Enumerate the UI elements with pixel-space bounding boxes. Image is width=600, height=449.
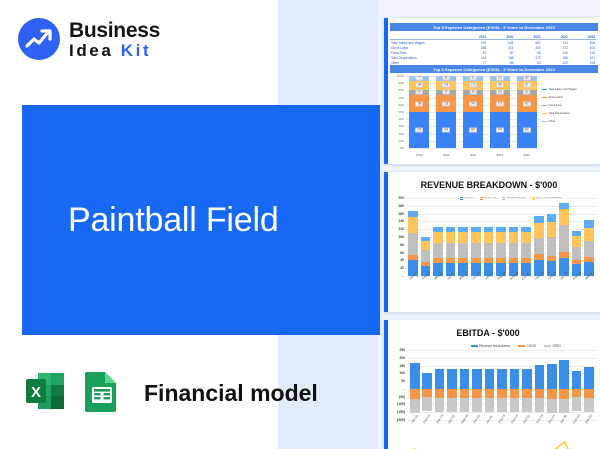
excel-file-icon: X (22, 368, 68, 419)
expense-chart-plot: 7714482288576851589031663492171983436871… (406, 76, 540, 148)
revenue-chart-bars (406, 198, 596, 276)
stack-segment: 403 (517, 95, 537, 113)
stacked-bar (559, 203, 569, 276)
stack-segment (472, 369, 482, 389)
stack-segment (584, 367, 594, 389)
stacked-bar: 108201115403806 (517, 76, 537, 148)
stack-segment (559, 399, 569, 413)
stack-segment (584, 241, 594, 257)
stack-segment (510, 369, 520, 389)
stack-segment (485, 369, 495, 389)
stack-segment (547, 389, 557, 399)
legend-item: OPEX (544, 344, 561, 348)
stack-segment (584, 389, 594, 398)
stack-segment: 171 (463, 81, 483, 90)
stack-segment (408, 233, 418, 255)
stack-segment: 316 (436, 95, 456, 113)
x-tick-label: 2020 (443, 153, 449, 157)
stack-segment (484, 243, 494, 258)
y-tick-label: 60 (400, 251, 404, 255)
stack-segment (522, 398, 532, 412)
ebitda-chart-legend: Revenue breakdownsCOGSOPEX (434, 344, 598, 348)
stack-segment (547, 364, 557, 389)
expense-chart-x-labels: 20192020202120222023 (406, 150, 540, 160)
stacked-bar: 8515890316634 (436, 76, 456, 148)
stack-segment (485, 389, 495, 398)
brand-kit-text: Kit (121, 41, 151, 60)
hero-panel: Paintball Field (22, 105, 380, 335)
revenue-breakdown-card: REVENUE BREAKDOWN - $'000 SteaksSeaFoodA… (384, 172, 600, 312)
stack-segment (484, 232, 494, 243)
stack-segment (572, 371, 582, 389)
stack-segment (547, 237, 557, 256)
stack-segment (447, 389, 457, 398)
stack-segment: 744 (490, 112, 510, 147)
stacked-bar (572, 350, 582, 420)
y-tick-label: 180 (398, 204, 404, 208)
stacked-bar (408, 211, 418, 276)
expense-table-title: Top 5 Expense Categories ($'000) - 5 Yea… (390, 23, 598, 31)
y-tick-label: 40 (400, 258, 404, 262)
stack-segment (460, 389, 470, 398)
stacked-bar (572, 231, 582, 276)
growth-arrow-icon (18, 18, 60, 60)
y-tick-label: 150 (399, 364, 405, 368)
stack-segment (410, 363, 420, 389)
stack-segment (471, 243, 481, 258)
y-tick-label: 200 (399, 356, 405, 360)
y-tick-label: (200) (397, 418, 405, 422)
stack-segment (446, 232, 456, 243)
legend-item: Revenue breakdowns (471, 344, 510, 348)
format-label: Financial model (144, 380, 318, 407)
stack-segment (534, 223, 544, 237)
stack-segment (458, 243, 468, 258)
stacked-bar (521, 227, 531, 276)
stacked-bar (584, 350, 594, 420)
stacked-bar: 100186106372744 (490, 76, 510, 148)
stack-segment (522, 389, 532, 398)
y-tick-label: - (403, 274, 404, 278)
legend-item: Total Depreciation (542, 112, 596, 115)
stack-segment (572, 236, 582, 247)
revenue-chart-x-labels: Jan-19Feb-19Mar-19Apr-19May-19Jun-19Jul-… (406, 278, 596, 302)
stacked-bar (421, 237, 431, 276)
y-tick-label: - (404, 387, 405, 391)
stacked-bar (547, 214, 557, 276)
revenue-chart-y-axis: 20018016014012010080604020- (386, 198, 404, 276)
legend-item: Fixed Fees (542, 104, 596, 107)
brand-logo: Business Idea Kit (18, 18, 160, 60)
y-tick-label: 100 (399, 371, 405, 375)
stack-segment (497, 398, 507, 412)
stack-segment (435, 389, 445, 398)
stack-segment: 186 (490, 81, 510, 90)
stack-segment (535, 365, 545, 389)
stack-segment (535, 398, 545, 412)
stack-segment: 144 (409, 81, 429, 90)
y-tick-label: 160 (398, 212, 404, 216)
expense-chart-bars: 7714482288576851589031663492171983436871… (406, 76, 540, 148)
stacked-bar (584, 220, 594, 276)
stack-segment: 634 (436, 112, 456, 148)
stack-segment (547, 399, 557, 413)
x-tick-label: 2023 (523, 153, 529, 157)
stacked-bar (535, 350, 545, 420)
y-tick-label: 20 (400, 266, 404, 270)
x-tick-label: 2021 (470, 153, 476, 157)
stack-segment: 576 (409, 112, 429, 148)
revenue-chart-plot (406, 198, 596, 276)
stack-segment (509, 232, 519, 243)
y-tick-label: 80 (400, 243, 404, 247)
stack-segment (572, 389, 582, 397)
stack-segment (471, 232, 481, 243)
slide-canvas: Business Idea Kit Paintball Field X (0, 0, 600, 449)
stack-segment (435, 369, 445, 389)
stack-segment (458, 232, 468, 243)
stack-segment: 201 (517, 81, 537, 90)
stack-segment: 288 (409, 95, 429, 113)
format-row: X Financial model (22, 368, 318, 419)
stack-segment (485, 398, 495, 412)
stacked-bar: 9217198343687 (463, 76, 483, 148)
ebitda-card: EBITDA - $'000 Revenue breakdownsCOGSOPE… (384, 320, 600, 449)
stack-segment (422, 373, 432, 389)
stack-segment (460, 398, 470, 412)
stack-segment (497, 389, 507, 398)
stacked-bar (435, 350, 445, 420)
stack-segment (446, 243, 456, 258)
stack-segment (509, 243, 519, 258)
stack-segment (559, 389, 569, 399)
stack-segment (408, 217, 418, 233)
stack-segment: 372 (490, 95, 510, 113)
stack-segment (534, 238, 544, 254)
revenue-chart-title: REVENUE BREAKDOWN - $'000 (384, 180, 594, 190)
expense-report-card: Top 5 Expense Categories ($'000) - 5 Yea… (384, 18, 600, 164)
stacked-bar (559, 350, 569, 420)
ebitda-chart-title: EBITDA - $'000 (384, 328, 592, 338)
stack-segment (496, 232, 506, 243)
stack-segment: 158 (436, 81, 456, 90)
stacked-bar (496, 227, 506, 276)
expense-chart-legend: Total Salary and WagesDirect LaborFixed … (542, 88, 596, 128)
y-tick-label: 100 (398, 235, 404, 239)
stack-segment (510, 389, 520, 398)
google-sheets-icon (82, 368, 122, 419)
ebitda-chart-x-labels: Jan-19Feb-19Mar-19Apr-19May-19Jun-19Jul-… (408, 422, 596, 446)
stack-segment (559, 209, 569, 225)
stack-segment (522, 369, 532, 389)
ebitda-chart-bars (408, 350, 596, 420)
y-tick-label: (50) (399, 395, 405, 399)
stack-segment (472, 398, 482, 412)
stacked-bar (534, 216, 544, 276)
x-tick-label: 2019 (416, 153, 422, 157)
y-tick-label: 140 (398, 219, 404, 223)
stacked-bar (485, 350, 495, 420)
legend-item: Other (542, 120, 596, 123)
stacked-bar (484, 227, 494, 276)
stack-segment (422, 389, 432, 397)
stack-segment (433, 243, 443, 258)
brand-idea-text: Idea (69, 41, 121, 60)
stacked-bar (547, 350, 557, 420)
stack-segment (584, 228, 594, 241)
stack-segment (535, 389, 545, 398)
stack-segment (422, 397, 432, 411)
stack-segment (472, 389, 482, 398)
ebitda-chart-plot (408, 350, 596, 420)
stack-segment (510, 398, 520, 412)
stacked-bar (433, 227, 443, 276)
stack-segment: 687 (463, 112, 483, 148)
x-tick-label: 2022 (497, 153, 503, 157)
stacked-bar (509, 227, 519, 276)
stacked-bar: 7714482288576 (409, 76, 429, 148)
stacked-bar (471, 227, 481, 276)
y-tick-label: 120 (398, 227, 404, 231)
y-tick-label: 200 (398, 196, 404, 200)
page-title: Paintball Field (68, 201, 279, 240)
stack-segment (572, 397, 582, 411)
stack-segment (559, 225, 569, 252)
legend-item: Direct Labor (542, 96, 596, 99)
stack-segment (410, 389, 420, 399)
stacked-bar (472, 350, 482, 420)
stack-segment: 343 (463, 95, 483, 113)
stacked-bar (422, 350, 432, 420)
svg-text:X: X (31, 384, 41, 401)
ebitda-chart-y-axis: 25020015010050-(50)(100)(150)(200) (384, 350, 406, 420)
stacked-bar (446, 227, 456, 276)
stack-segment (572, 247, 582, 261)
stack-segment (421, 250, 431, 262)
stack-segment (534, 216, 544, 223)
expense-chart-title: Top 5 Expense Categories ($'000) - 5 Yea… (390, 65, 598, 73)
stack-segment (433, 232, 443, 243)
stack-segment (447, 398, 457, 412)
stacked-bar (447, 350, 457, 420)
expense-chart-y-axis: 0%10%20%30%40%50%60%70%80%90%100% (390, 76, 405, 148)
y-tick-label: 50 (401, 379, 405, 383)
card-accent-rail (384, 18, 388, 164)
stacked-bar (497, 350, 507, 420)
stacked-bar (410, 350, 420, 420)
stack-segment (435, 398, 445, 412)
stack-segment (584, 220, 594, 228)
stack-segment (521, 232, 531, 243)
stack-segment (584, 398, 594, 412)
expense-stacked-chart: 0%10%20%30%40%50%60%70%80%90%100% 771448… (390, 74, 596, 160)
stack-segment (559, 360, 569, 389)
stack-segment (421, 241, 431, 250)
y-tick-label: (100) (397, 402, 405, 406)
stack-segment: 806 (517, 112, 537, 148)
stack-segment (410, 399, 420, 413)
stack-segment (521, 243, 531, 258)
brand-name-line2: Idea Kit (69, 42, 160, 59)
stack-segment (460, 369, 470, 389)
legend-item: COGS (518, 344, 536, 348)
stack-segment (547, 222, 557, 237)
stack-segment (497, 369, 507, 389)
stacked-bar (460, 350, 470, 420)
y-tick-label: 250 (399, 348, 405, 352)
stacked-bar (458, 227, 468, 276)
stacked-bar (510, 350, 520, 420)
stack-segment (496, 243, 506, 258)
stack-segment (547, 214, 557, 222)
stacked-bar (522, 350, 532, 420)
stack-segment (447, 369, 457, 389)
brand-name-line1: Business (69, 20, 160, 41)
legend-item: Total Salary and Wages (542, 88, 596, 91)
y-tick-label: (150) (397, 410, 405, 414)
